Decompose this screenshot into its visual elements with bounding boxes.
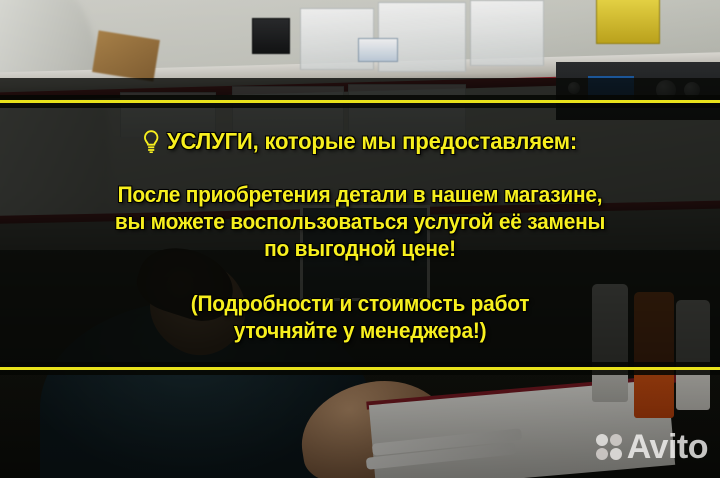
services-note: (Подробности и стоимость работ уточняйте… <box>18 290 702 344</box>
body-line: После приобретения детали в нашем магази… <box>18 181 702 208</box>
rule-shadow-bottom-b <box>0 370 720 375</box>
listing-image-canvas: УСЛУГИ, которые мы предоставляем: После … <box>0 0 720 478</box>
note-line: (Подробности и стоимость работ <box>18 290 702 317</box>
body-line: вы можете воспользоваться услугой её зам… <box>18 208 702 235</box>
services-heading: УСЛУГИ, которые мы предоставляем: <box>14 128 705 155</box>
body-line: по выгодной цене! <box>18 235 702 262</box>
lightbulb-icon <box>143 130 159 154</box>
avito-watermark: Avito <box>596 430 708 464</box>
avito-wordmark: Avito <box>627 430 708 464</box>
note-line: уточняйте у менеджера!) <box>18 317 702 344</box>
services-heading-text: УСЛУГИ, которые мы предоставляем: <box>167 128 577 155</box>
services-body: После приобретения детали в нашем магази… <box>18 181 702 262</box>
avito-dots-icon <box>596 434 622 460</box>
overlay-text-block: УСЛУГИ, которые мы предоставляем: После … <box>0 104 720 344</box>
